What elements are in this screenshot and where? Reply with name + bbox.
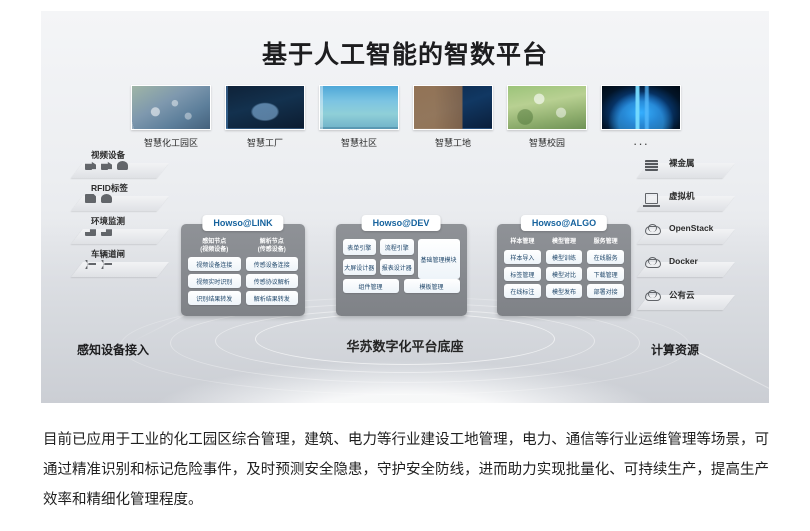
scenario-card[interactable]: 智慧工厂 — [225, 85, 305, 151]
stack-item-rfid-tag[interactable]: RFID标签 — [77, 184, 187, 215]
stack-item-video-device[interactable]: 视频设备 — [77, 151, 187, 182]
scenario-label: 智慧化工园区 — [131, 136, 211, 149]
server-rack-icon — [645, 160, 658, 171]
stack-item-openstack[interactable]: OpenStack — [629, 217, 739, 248]
link-column-sensing-node: 感知节点 (视频设备) 视频设备连接 视频实时识别 识别结果转发 — [188, 239, 241, 308]
chip-sensor-device-connect[interactable]: 传感设备连接 — [246, 257, 299, 271]
chip-component-management[interactable]: 组件管理 — [343, 279, 399, 293]
scenario-card[interactable]: 智慧社区 — [319, 85, 399, 151]
cloud-icon — [645, 292, 661, 301]
chip-label-management[interactable]: 标签管理 — [504, 267, 541, 281]
chip-deployment-integration[interactable]: 部署对接 — [587, 284, 624, 298]
column-header-line2: (视频设备) — [188, 247, 241, 255]
dev-column-base-module: 基础管理模块 — [418, 239, 460, 279]
slab-icon-group — [85, 161, 128, 170]
stack-item-label: Docker — [669, 256, 769, 266]
rfid-tag-icon — [85, 194, 96, 203]
chip-sensor-protocol-parse[interactable]: 传感协议解析 — [246, 274, 299, 288]
sensing-device-stack: 视频设备 RFID标签 环境监测 车辆道闸 — [77, 151, 187, 283]
chip-download-management[interactable]: 下载管理 — [587, 267, 624, 281]
slab-icon-group — [85, 260, 112, 269]
body-paragraph: 目前已应用于工业的化工园区综合管理，建筑、电力等行业建设工地管理，电力、通信等行… — [43, 425, 769, 515]
chip-base-management-module[interactable]: 基础管理模块 — [418, 239, 460, 279]
stack-item-vehicle-barrier[interactable]: 车辆道闸 — [77, 250, 187, 281]
slab-icon-group — [645, 292, 661, 301]
stack-item-label: 虚拟机 — [669, 190, 769, 202]
chip-workflow-engine[interactable]: 流程引擎 — [380, 239, 414, 255]
module-howso-dev[interactable]: Howso@DEV 表单引擎 大屏设计器 流程引擎 报表设计器 基础管理模块 组… — [336, 224, 467, 316]
module-badge-dev: Howso@DEV — [362, 215, 441, 231]
module-howso-link[interactable]: Howso@LINK 感知节点 (视频设备) 视频设备连接 视频实时识别 识别结… — [181, 224, 305, 316]
barrier-gate-icon — [85, 260, 96, 269]
rfid-reader-icon — [101, 194, 112, 203]
virtual-machine-icon — [645, 193, 658, 204]
column-header: 服务管理 — [587, 239, 624, 247]
camera-icon — [85, 161, 96, 170]
chip-bigscreen-designer[interactable]: 大屏设计器 — [343, 259, 377, 275]
chip-model-publish[interactable]: 模型发布 — [546, 284, 583, 298]
scenario-label: 智慧社区 — [319, 136, 399, 149]
stack-item-label: RFID标签 — [91, 182, 201, 194]
scenario-label: 智慧校园 — [507, 136, 587, 149]
column-header: 样本管理 — [504, 239, 541, 247]
scenario-label: 智慧工地 — [413, 136, 493, 149]
link-column-parse-node: 解析节点 (传感设备) 传感设备连接 传感协议解析 解析结果转发 — [246, 239, 299, 308]
stack-item-docker[interactable]: Docker — [629, 250, 739, 281]
dome-camera-icon — [117, 161, 128, 170]
dev-column-engines: 表单引擎 大屏设计器 — [343, 239, 377, 279]
air-monitor-icon — [101, 227, 112, 236]
stack-item-label: 视频设备 — [91, 149, 201, 161]
chip-template-management[interactable]: 模板管理 — [404, 279, 460, 293]
chip-online-service[interactable]: 在线服务 — [587, 250, 624, 264]
stack-item-label: OpenStack — [669, 223, 769, 233]
scenario-image-smart-factory — [225, 85, 305, 130]
scenario-image-smart-community — [319, 85, 399, 130]
column-header-line1: 感知节点 — [188, 239, 241, 247]
scenario-label: 智慧工厂 — [225, 136, 305, 149]
stack-item-bare-metal[interactable]: 裸金属 — [629, 151, 739, 182]
scenario-card[interactable]: 智慧工地 — [413, 85, 493, 151]
bullet-camera-icon — [101, 161, 112, 170]
column-header: 模型管理 — [546, 239, 583, 247]
scenario-card-more[interactable]: ··· — [601, 85, 681, 151]
algo-column-service-management: 服务管理 在线服务 下载管理 部署对接 — [587, 239, 624, 301]
chip-video-realtime-recognition[interactable]: 视频实时识别 — [188, 274, 241, 288]
module-badge-algo: Howso@ALGO — [521, 215, 607, 231]
chip-online-annotation[interactable]: 在线标注 — [504, 284, 541, 298]
chip-form-engine[interactable]: 表单引擎 — [343, 239, 377, 255]
scenario-card[interactable]: 智慧校园 — [507, 85, 587, 151]
slab-icon-group — [645, 259, 661, 268]
chip-sample-import[interactable]: 样本导入 — [504, 250, 541, 264]
chip-model-training[interactable]: 模型训练 — [546, 250, 583, 264]
algo-column-sample-management: 样本管理 样本导入 标签管理 在线标注 — [504, 239, 541, 301]
dev-column-designers: 流程引擎 报表设计器 — [380, 239, 414, 279]
module-howso-algo[interactable]: Howso@ALGO 样本管理 样本导入 标签管理 在线标注 模型管理 模型训练… — [497, 224, 631, 316]
scenario-image-smart-city — [601, 85, 681, 130]
sensing-stack-title: 感知设备接入 — [77, 341, 187, 358]
cloud-icon — [645, 259, 661, 268]
sensor-icon — [85, 227, 96, 236]
slab-icon-group — [645, 193, 658, 204]
scenario-image-construction-site — [413, 85, 493, 130]
slab-icon-group — [645, 160, 658, 171]
chip-model-comparison[interactable]: 模型对比 — [546, 267, 583, 281]
stack-item-label: 公有云 — [669, 289, 769, 301]
slab-icon-group — [645, 226, 661, 235]
column-header-line2: (传感设备) — [246, 247, 299, 255]
platform-modules-row: Howso@LINK 感知节点 (视频设备) 视频设备连接 视频实时识别 识别结… — [181, 224, 631, 316]
scenario-label-ellipsis: ··· — [601, 136, 681, 151]
scenario-thumbnail-row: 智慧化工园区 智慧工厂 智慧社区 智慧工地 智慧校园 ··· — [131, 85, 681, 151]
compute-resource-stack: 裸金属 虚拟机 OpenStack Docker — [629, 151, 739, 316]
scenario-image-smart-campus — [507, 85, 587, 130]
slab-icon-group — [85, 227, 112, 236]
stack-item-public-cloud[interactable]: 公有云 — [629, 283, 739, 314]
platform-architecture-diagram: 基于人工智能的智数平台 智慧化工园区 智慧工厂 智慧社区 智慧工地 智慧校园 ·… — [41, 11, 769, 403]
column-header-line1: 解析节点 — [246, 239, 299, 247]
chip-report-designer[interactable]: 报表设计器 — [380, 259, 414, 275]
scenario-card[interactable]: 智慧化工园区 — [131, 85, 211, 151]
algo-column-model-management: 模型管理 模型训练 模型对比 模型发布 — [546, 239, 583, 301]
scenario-image-chemical-park — [131, 85, 211, 130]
chip-parse-result-forward[interactable]: 解析结果转发 — [246, 291, 299, 305]
stack-item-virtual-machine[interactable]: 虚拟机 — [629, 184, 739, 215]
column-header: 解析节点 (传感设备) — [246, 239, 299, 254]
diagram-title: 基于人工智能的智数平台 — [41, 35, 769, 71]
stack-item-label: 裸金属 — [669, 157, 769, 169]
chip-video-device-connect[interactable]: 视频设备连接 — [188, 257, 241, 271]
vehicle-icon — [101, 260, 112, 269]
chip-recognition-result-forward[interactable]: 识别结果转发 — [188, 291, 241, 305]
column-header: 感知节点 (视频设备) — [188, 239, 241, 254]
cloud-icon — [645, 226, 661, 235]
slab-icon-group — [85, 194, 112, 203]
compute-stack-title: 计算资源 — [651, 341, 761, 358]
stack-item-environment-monitor[interactable]: 环境监测 — [77, 217, 187, 248]
module-badge-link: Howso@LINK — [202, 215, 283, 231]
